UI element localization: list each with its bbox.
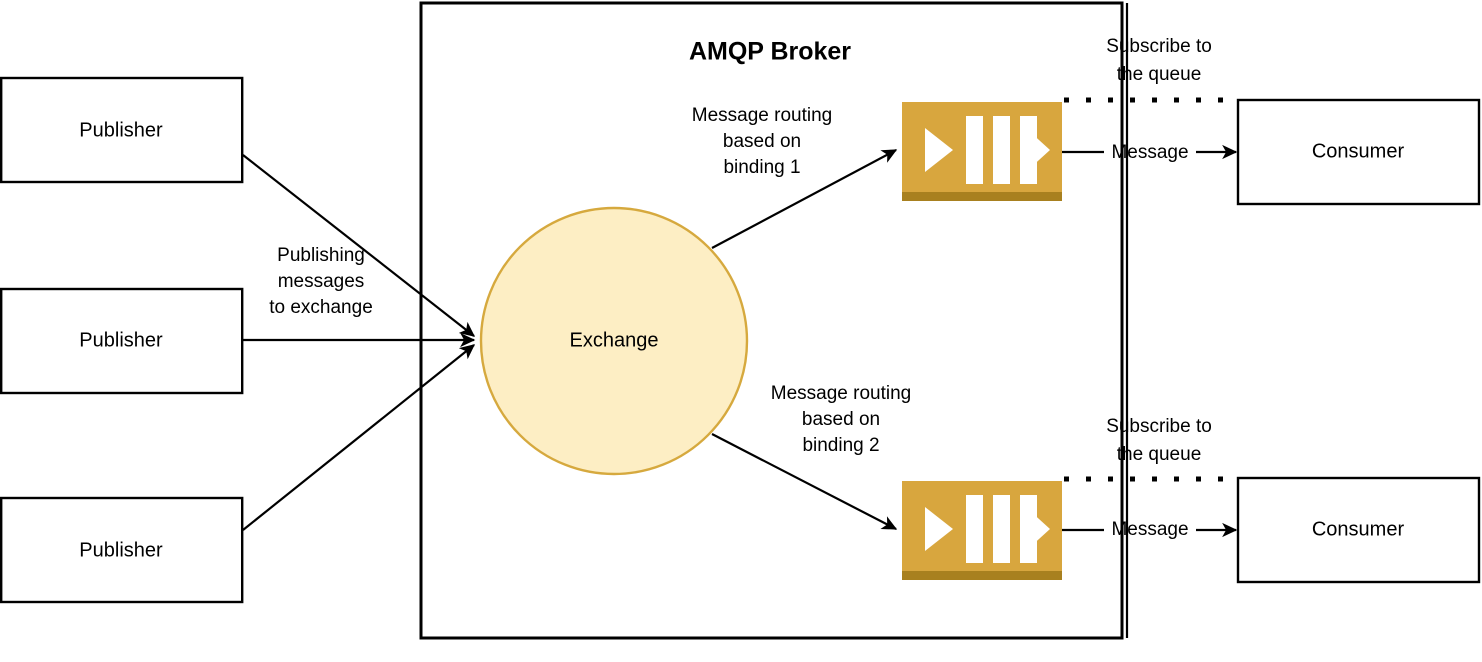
edge-label-routing-1-line1: Message routing	[692, 105, 832, 126]
queue-icon-2[interactable]	[902, 481, 1062, 580]
edge-label-subscribe-1-line2: the queue	[1117, 64, 1202, 85]
edge-label-routing-1: Message routing based on binding 1	[692, 105, 832, 178]
edge-subscribe-consumer-1	[1064, 100, 1240, 112]
edge-label-subscribe-1-line1: Subscribe to	[1106, 36, 1212, 57]
publisher-2-label: Publisher	[79, 329, 163, 351]
publisher-3-label: Publisher	[79, 539, 163, 561]
edge-label-publish-line2: messages	[278, 271, 365, 292]
edge-label-subscribe-2-line1: Subscribe to	[1106, 416, 1212, 437]
queue-icon-1[interactable]	[902, 102, 1062, 201]
edge-label-routing-2-line3: binding 2	[802, 435, 879, 456]
edge-label-message-1: Message	[1111, 142, 1188, 163]
edge-label-publish: Publishing messages to exchange	[269, 245, 373, 318]
edge-label-routing-1-line2: based on	[723, 131, 801, 152]
edge-label-routing-2: Message routing based on binding 2	[771, 383, 911, 456]
edge-label-routing-2-line1: Message routing	[771, 383, 911, 404]
consumer-2-label: Consumer	[1312, 518, 1405, 540]
edge-subscribe-consumer-2	[1064, 479, 1240, 491]
consumer-1-label: Consumer	[1312, 140, 1405, 162]
edge-label-message-2: Message	[1111, 519, 1188, 540]
amqp-broker-diagram: AMQP Broker Publisher Publisher Publishe…	[0, 0, 1482, 662]
edge-label-publish-line1: Publishing	[277, 245, 365, 266]
exchange-label: Exchange	[570, 329, 659, 351]
publisher-1-label: Publisher	[79, 119, 163, 141]
edge-label-routing-2-line2: based on	[802, 409, 880, 430]
edge-publisher-3-to-exchange	[243, 345, 474, 530]
edge-label-subscribe-2-line2: the queue	[1117, 444, 1202, 465]
edge-label-routing-1-line3: binding 1	[723, 157, 800, 178]
edge-label-publish-line3: to exchange	[269, 297, 373, 318]
broker-title: AMQP Broker	[689, 38, 851, 66]
